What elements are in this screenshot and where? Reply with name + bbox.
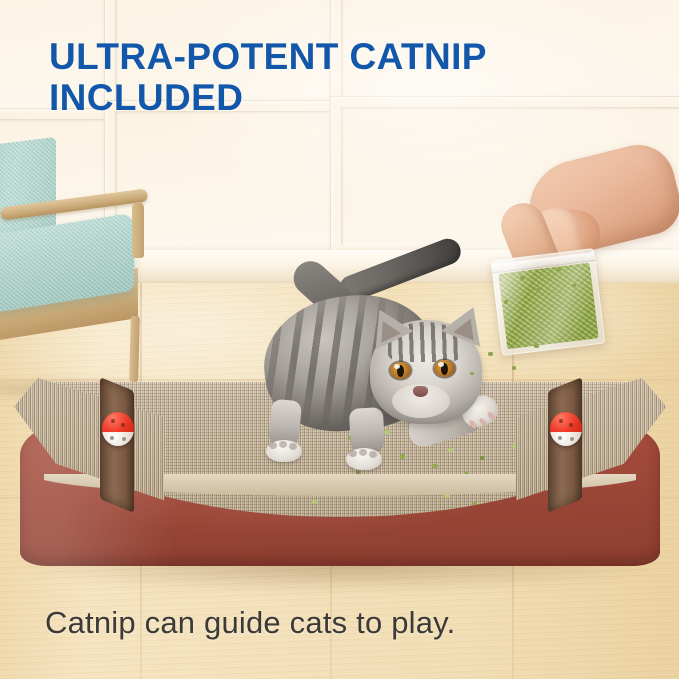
cat-paw	[346, 448, 382, 470]
cat-toe	[369, 451, 377, 458]
cat-eye-glint	[438, 362, 444, 367]
bell-hole	[569, 423, 573, 427]
headline-line-1: ULTRA-POTENT CATNIP	[49, 36, 629, 77]
cat-toe	[279, 441, 287, 448]
page-caption: Catnip can guide cats to play.	[45, 605, 455, 641]
cat-claw	[478, 417, 488, 427]
bell-hole	[110, 436, 114, 440]
falling-catnip-flake	[504, 300, 508, 304]
hand-holding-catnip-packet	[492, 150, 679, 350]
bell-bottom-half	[102, 432, 134, 446]
falling-catnip-flake	[536, 288, 540, 292]
cat-nose	[413, 386, 428, 397]
falling-catnip-flake	[556, 268, 561, 272]
product-marketing-image: ULTRA-POTENT CATNIP INCLUDED Catnip can …	[0, 0, 679, 679]
falling-catnip-flake	[470, 372, 474, 375]
armchair-leg	[129, 316, 140, 382]
cat-toe	[269, 442, 277, 449]
bell-top-half	[550, 412, 582, 433]
headline-line-2: INCLUDED	[49, 77, 629, 118]
cat-eye-right	[434, 360, 455, 377]
cat-toe	[359, 449, 367, 456]
bell-hole	[122, 437, 126, 441]
cat-eye-glint	[394, 364, 400, 369]
armchair-arm-post	[132, 202, 144, 258]
bell-top-half	[102, 412, 134, 433]
cat-toe	[349, 450, 357, 457]
cat-eye-left	[390, 362, 411, 379]
bell-hole	[570, 437, 574, 441]
bell-hole	[558, 436, 562, 440]
bell-ball-left[interactable]	[102, 412, 134, 446]
bell-hole	[121, 423, 125, 427]
falling-catnip-flake	[534, 344, 539, 348]
armchair	[0, 140, 174, 360]
cat-claw	[486, 411, 496, 421]
bell-bottom-half	[550, 432, 582, 446]
cat-toe	[289, 443, 297, 450]
bell-ball-right[interactable]	[550, 412, 582, 446]
silver-tabby-kitten	[258, 258, 518, 490]
page-headline: ULTRA-POTENT CATNIP INCLUDED	[49, 36, 629, 118]
falling-catnip-flake	[520, 276, 525, 280]
bell-hole	[111, 419, 115, 423]
cat-paw	[266, 440, 302, 462]
falling-catnip-flake	[572, 284, 576, 287]
falling-catnip-flake	[512, 366, 516, 370]
falling-catnip-flake	[488, 352, 493, 356]
bell-hole	[559, 419, 563, 423]
catnip-flake	[312, 500, 317, 504]
